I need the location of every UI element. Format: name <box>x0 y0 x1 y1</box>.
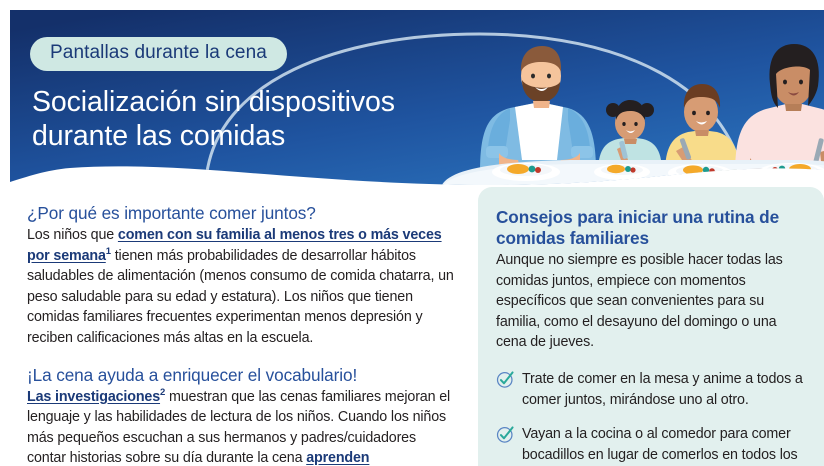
header-banner: Pantallas durante la cena Socialización … <box>10 10 824 192</box>
link-las-investigaciones[interactable]: Las investigaciones <box>27 389 160 405</box>
check-circle-icon <box>496 370 515 389</box>
link-aprenden[interactable]: aprenden <box>306 450 369 466</box>
tips-panel-intro: Aunque no siempre es posible hacer todas… <box>496 250 806 353</box>
left-content-column: ¿Por qué es importante comer juntos? Los… <box>27 203 455 466</box>
check-circle-icon <box>496 425 515 444</box>
section-heading-why-eat-together: ¿Por qué es importante comer juntos? <box>27 203 455 224</box>
section1-text-before-link: Los niños que <box>27 227 118 243</box>
section-heading-vocabulary: ¡La cena ayuda a enriquecer el vocabular… <box>27 365 455 386</box>
tips-list: Trate de comer en la mesa y anime a todo… <box>496 369 806 466</box>
tip-item: Trate de comer en la mesa y anime a todo… <box>496 369 806 410</box>
tips-panel-title-line1: Consejos para iniciar una rutina de <box>496 207 779 227</box>
tips-panel: Consejos para iniciar una rutina de comi… <box>478 187 824 466</box>
tip-text: Vayan a la cocina o al comedor para come… <box>522 424 806 466</box>
infographic-page: Pantallas durante la cena Socialización … <box>0 0 824 466</box>
section1-paragraph: Los niños que comen con su familia al me… <box>27 225 455 349</box>
tip-item: Vayan a la cocina o al comedor para come… <box>496 424 806 466</box>
page-title: Socialización sin dispositivos durante l… <box>32 85 552 153</box>
tips-panel-title-line2: comidas familiares <box>496 228 649 248</box>
section2-paragraph: Las investigaciones2 muestran que las ce… <box>27 387 455 466</box>
paragraph-spacer <box>27 349 455 365</box>
tip-text: Trate de comer en la mesa y anime a todo… <box>522 369 806 410</box>
page-title-line2: durante las comidas <box>32 119 552 153</box>
tips-panel-title: Consejos para iniciar una rutina de comi… <box>496 207 806 249</box>
header-badge: Pantallas durante la cena <box>30 37 287 71</box>
page-title-line1: Socialización sin dispositivos <box>32 86 395 118</box>
